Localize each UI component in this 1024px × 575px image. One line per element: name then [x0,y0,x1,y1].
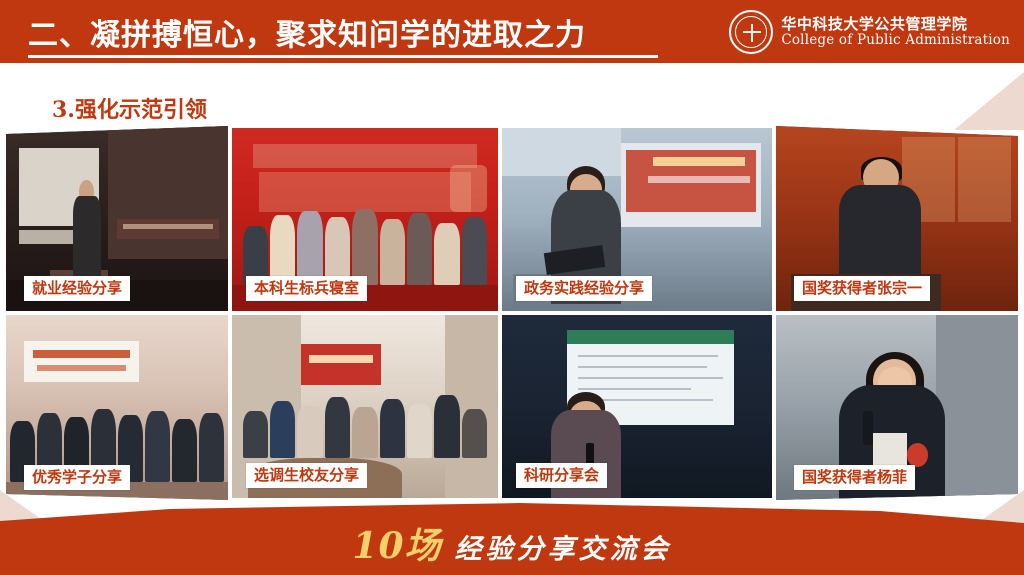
photo-caption-5: 优秀学子分享 [24,465,130,490]
photo-card-5: 优秀学子分享 [6,315,228,500]
photo-caption-6: 选调生校友分享 [246,463,367,488]
university-seal-icon [729,10,773,54]
logo-text: 华中科技大学公共管理学院 College of Public Administr… [781,16,1010,49]
footer-text: 10场 经验分享交流会 [0,517,1024,569]
university-logo: 华中科技大学公共管理学院 College of Public Administr… [729,8,1010,56]
photo-card-2: 本科生标兵寝室 [232,128,498,311]
photo-caption-4: 国奖获得者张宗一 [794,276,930,301]
footer-count: 10场 [352,525,441,567]
photo-grid: 就业经验分享 [6,126,1018,503]
page-title: 二、凝拼搏恒心，聚求知问学的进取之力 [28,10,586,54]
photo-caption-8: 国奖获得者杨菲 [794,465,915,490]
photo-card-3: 政务实践经验分享 [502,128,772,311]
photo-card-1: 就业经验分享 [6,126,228,311]
photo-card-8: 国奖获得者杨菲 [776,315,1018,500]
logo-en-name: College of Public Administration [781,33,1010,49]
photo-caption-7: 科研分享会 [516,463,607,488]
photo-card-6: 选调生校友分享 [232,315,498,498]
photo-card-7: 科研分享会 [502,315,772,498]
logo-cn-name: 华中科技大学公共管理学院 [781,16,1010,33]
photo-caption-3: 政务实践经验分享 [516,276,652,301]
photo-caption-2: 本科生标兵寝室 [246,276,367,301]
decor-corner-top-right [954,72,1024,130]
photo-card-4: 国奖获得者张宗一 [776,126,1018,311]
footer-label: 经验分享交流会 [455,534,672,565]
slide-header: 二、凝拼搏恒心，聚求知问学的进取之力 华中科技大学公共管理学院 College … [0,0,1024,63]
title-underline [28,55,658,58]
section-title: 3.强化示范引领 [52,92,207,124]
photo-caption-1: 就业经验分享 [24,276,130,301]
slide: 二、凝拼搏恒心，聚求知问学的进取之力 华中科技大学公共管理学院 College … [0,0,1024,575]
